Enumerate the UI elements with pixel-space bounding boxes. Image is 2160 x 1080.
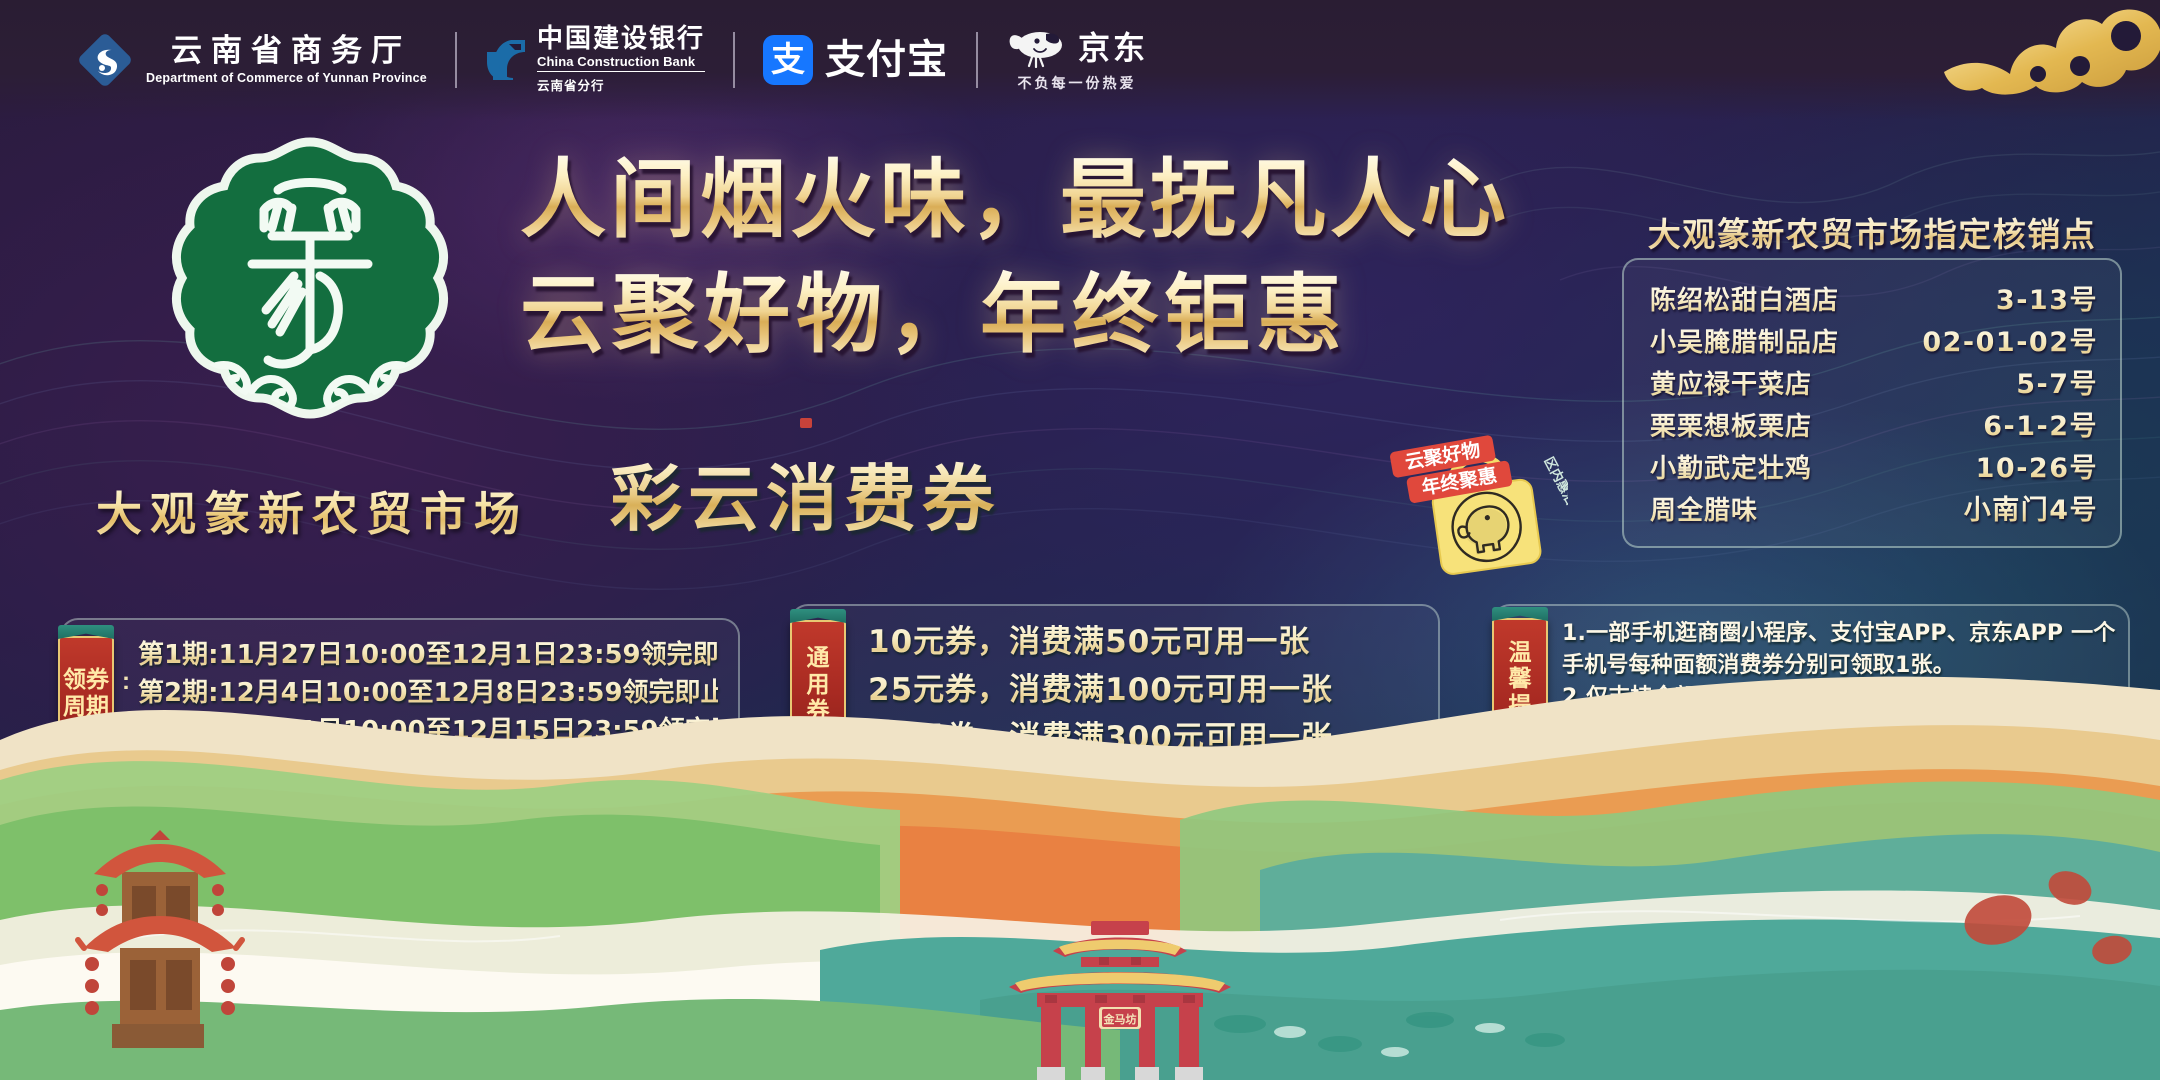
table-row: 陈绍松甜白酒店 3-13号 bbox=[1650, 280, 2098, 322]
jd-dog-icon bbox=[1006, 28, 1068, 68]
yunnan-commerce-icon bbox=[78, 33, 132, 87]
market-seal-logo bbox=[160, 128, 460, 428]
logo-ccb-sub: 云南省分行 bbox=[537, 75, 705, 94]
logo-jd-cn: 京东 bbox=[1078, 32, 1148, 64]
verify-store-list: 陈绍松甜白酒店 3-13号 小吴腌腊制品店 02-01-02号 黄应禄干菜店 5… bbox=[1650, 280, 2098, 532]
table-row: 小吴腌腊制品店 02-01-02号 bbox=[1650, 322, 2098, 364]
store-name: 小吴腌腊制品店 bbox=[1650, 322, 1839, 364]
logo-divider-2 bbox=[733, 32, 735, 88]
store-stall-no: 3-13号 bbox=[1996, 280, 2098, 322]
store-name: 小勤武定壮鸡 bbox=[1650, 448, 1812, 490]
store-stall-no: 5-7号 bbox=[2016, 364, 2098, 406]
logo-yunnan-en: Department of Commerce of Yunnan Provinc… bbox=[146, 71, 427, 85]
headline-line-2: 云聚好物，年终钜惠 bbox=[520, 263, 1580, 368]
logo-alipay: 支 支付宝 bbox=[763, 35, 948, 85]
logo-ccb-en: China Construction Bank bbox=[537, 54, 705, 72]
logo-alipay-cn: 支付宝 bbox=[825, 40, 948, 80]
logo-divider-3 bbox=[976, 32, 978, 88]
headline-line-1: 人间烟火味，最抚凡人心 bbox=[520, 148, 1580, 253]
logo-yunnan-commerce: 云南省商务厅 Department of Commerce of Yunnan … bbox=[78, 33, 427, 87]
logo-jd: 京东 不负每一份热爱 bbox=[1006, 28, 1148, 93]
pagoda-illustration bbox=[60, 828, 260, 1058]
partner-logo-bar: 云南省商务厅 Department of Commerce of Yunnan … bbox=[78, 24, 1148, 96]
store-name: 陈绍松甜白酒店 bbox=[1650, 280, 1839, 322]
table-row: 周全腊味 小南门4号 bbox=[1650, 490, 2098, 532]
logo-ccb: 中国建设银行 China Construction Bank 云南省分行 bbox=[485, 26, 705, 94]
banner-root: 云南省商务厅 Department of Commerce of Yunnan … bbox=[0, 0, 2160, 1080]
table-row: 小勤武定壮鸡 10-26号 bbox=[1650, 448, 2098, 490]
logo-ccb-cn: 中国建设银行 bbox=[537, 26, 705, 53]
table-row: 黄应禄干菜店 5-7号 bbox=[1650, 364, 2098, 406]
logo-divider-1 bbox=[455, 32, 457, 88]
headline-block: 人间烟火味，最抚凡人心 云聚好物，年终钜惠 bbox=[520, 148, 1580, 368]
logo-jd-slogan: 不负每一份热爱 bbox=[1017, 73, 1136, 93]
logo-yunnan-cn: 云南省商务厅 bbox=[162, 35, 411, 68]
store-stall-no: 02-01-02号 bbox=[1922, 322, 2098, 364]
coupon-bag-badge: 云聚好物 年终聚惠 区内惠活动 bbox=[1378, 428, 1568, 588]
store-stall-no: 小南门4号 bbox=[1964, 490, 2098, 532]
store-stall-no: 6-1-2号 bbox=[1983, 406, 2098, 448]
store-name: 周全腊味 bbox=[1650, 490, 1758, 532]
market-name: 大观篆新农贸市场 bbox=[96, 478, 566, 544]
alipay-icon: 支 bbox=[763, 35, 813, 85]
table-row: 栗栗想板栗店 6-1-2号 bbox=[1650, 406, 2098, 448]
headline-accent-dot bbox=[800, 418, 812, 428]
ccb-icon bbox=[485, 38, 527, 82]
bag-arc-text: 区内惠活动 bbox=[1540, 454, 1568, 519]
archway-illustration: 金马坊 bbox=[975, 895, 1265, 1080]
store-name: 黄应禄干菜店 bbox=[1650, 364, 1812, 406]
gold-cloud-icon bbox=[1930, 0, 2160, 114]
store-stall-no: 10-26号 bbox=[1976, 448, 2098, 490]
headline-subtitle: 彩云消费券 bbox=[610, 440, 1000, 545]
archway-plaque-text: 金马坊 bbox=[1103, 1012, 1137, 1026]
store-name: 栗栗想板栗店 bbox=[1650, 406, 1812, 448]
verify-panel-title: 大观篆新农贸市场指定核销点 bbox=[1632, 208, 2112, 256]
